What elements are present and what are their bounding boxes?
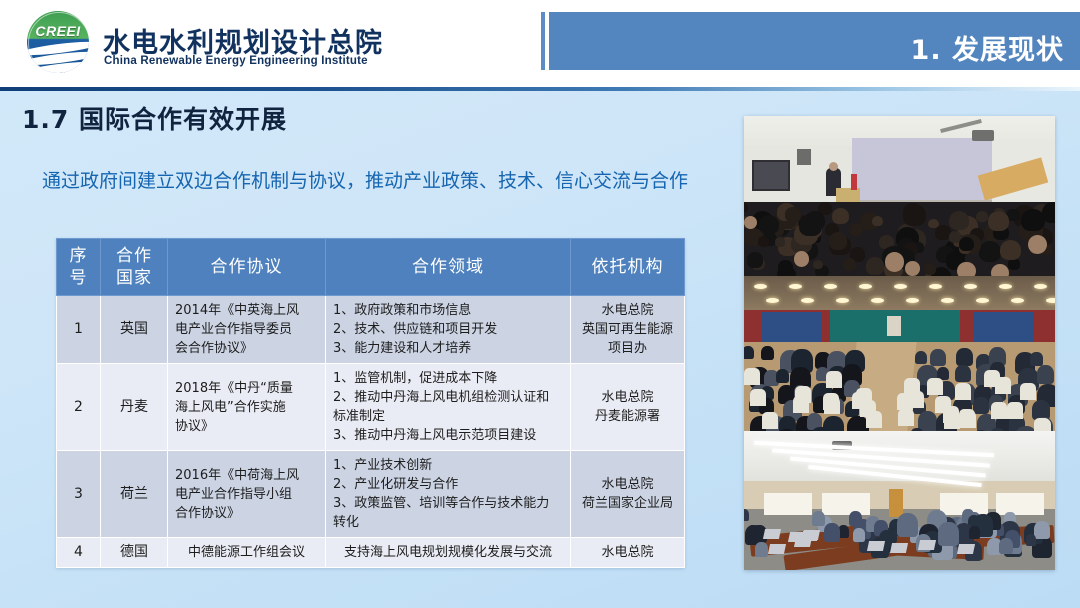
cell-agreement: 2016年《中荷海上风 电产业合作指导小组 合作协议》 — [168, 451, 326, 538]
header-divider — [0, 87, 1080, 91]
column-header-areas: 合作领域 — [326, 239, 571, 296]
photo-screen-left — [762, 312, 822, 342]
photo-wall-monitor — [752, 160, 790, 191]
table-row: 2 丹麦 2018年《中丹“质量 海上风电”合作实施 协议》 1、监管机制，促进… — [57, 364, 685, 451]
photo-ceiling — [744, 276, 1055, 310]
photo-podium — [887, 316, 901, 336]
cell-org: 水电总院 荷兰国家企业局 — [571, 451, 685, 538]
cell-index: 1 — [57, 296, 101, 364]
column-header-country: 合作 国家 — [101, 239, 168, 296]
photo-wall-speaker — [797, 149, 811, 165]
table-row: 4 德国 中德能源工作组会议 支持海上风电规划规模化发展与交流 水电总院 — [57, 538, 685, 568]
photo-flag — [851, 174, 857, 190]
column-header-org: 依托机构 — [571, 239, 685, 296]
photo-presenter-head — [829, 162, 838, 171]
banner-accent-bar — [541, 12, 545, 70]
table-header-row: 序 号 合作 国家 合作协议 合作领域 依托机构 — [57, 239, 685, 296]
cell-areas: 支持海上风电规划规模化发展与交流 — [326, 538, 571, 568]
slide-canvas: CREEI 水电水利规划设计总院 China Renewable Energy … — [0, 0, 1080, 608]
cell-org: 水电总院 英国可再生能源 项目办 — [571, 296, 685, 364]
column-header-agreement: 合作协议 — [168, 239, 326, 296]
cell-agreement: 2018年《中丹“质量 海上风电”合作实施 协议》 — [168, 364, 326, 451]
photo-stack — [744, 116, 1055, 570]
creei-logo-icon: CREEI — [27, 11, 89, 73]
photo-conference-hall-screens — [744, 276, 1055, 431]
logo-wordmark: CREEI — [27, 23, 89, 39]
cell-org: 水电总院 丹麦能源署 — [571, 364, 685, 451]
photo-conference-auditorium — [744, 116, 1055, 276]
column-header-index: 序 号 — [57, 239, 101, 296]
cell-country: 荷兰 — [101, 451, 168, 538]
organization-name-en: China Renewable Energy Engineering Insti… — [104, 55, 368, 67]
cell-index: 2 — [57, 364, 101, 451]
cell-index: 3 — [57, 451, 101, 538]
cell-country: 丹麦 — [101, 364, 168, 451]
cell-areas: 1、政府政策和市场信息 2、技术、供应链和项目开发 3、能力建设和人才培养 — [326, 296, 571, 364]
cooperation-table: 序 号 合作 国家 合作协议 合作领域 依托机构 1 英国 2014年《中英海上… — [56, 238, 685, 568]
page-title: 1.7 国际合作有效开展 — [22, 100, 287, 136]
slide-header: CREEI 水电水利规划设计总院 China Renewable Energy … — [0, 0, 1080, 89]
photo-projection-screen — [852, 138, 992, 200]
cell-agreement: 中德能源工作组会议 — [168, 538, 326, 568]
photo-meeting-roundtable — [744, 431, 1055, 570]
cell-org: 水电总院 — [571, 538, 685, 568]
cell-areas: 1、产业技术创新 2、产业化研发与合作 3、政策监管、培训等合作与技术能力 转化 — [326, 451, 571, 538]
cell-areas: 1、监管机制，促进成本下降 2、推动中丹海上风电机组检测认证和 标准制定 3、推… — [326, 364, 571, 451]
page-subtitle: 通过政府间建立双边合作机制与协议，推动产业政策、技术、信心交流与合作 — [42, 166, 702, 196]
cell-index: 4 — [57, 538, 101, 568]
photo-projector — [972, 130, 994, 141]
cell-agreement: 2014年《中英海上风 电产业合作指导委员 会合作协议》 — [168, 296, 326, 364]
chapter-title: 1. 发展现状 — [911, 28, 1064, 67]
chapter-banner: 1. 发展现状 — [549, 12, 1080, 70]
cell-country: 英国 — [101, 296, 168, 364]
table-row: 3 荷兰 2016年《中荷海上风 电产业合作指导小组 合作协议》 1、产业技术创… — [57, 451, 685, 538]
cell-country: 德国 — [101, 538, 168, 568]
photo-screen-right — [974, 312, 1034, 342]
table-row: 1 英国 2014年《中英海上风 电产业合作指导委员 会合作协议》 1、政府政策… — [57, 296, 685, 364]
